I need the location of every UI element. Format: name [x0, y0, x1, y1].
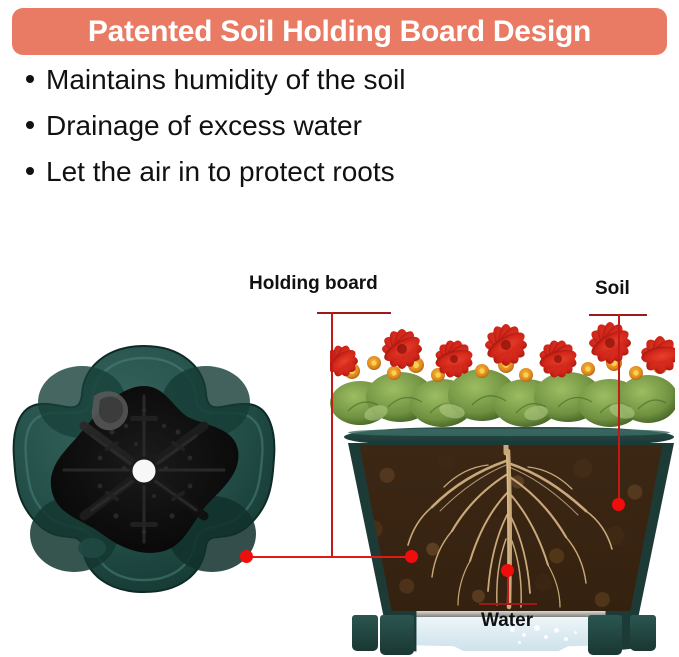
- callout-label-water: Water: [481, 610, 533, 632]
- list-item: Drainage of excess water: [26, 112, 586, 158]
- holding-board-leader-rule: [317, 312, 391, 314]
- feature-list: Maintains humidity of the soil Drainage …: [26, 66, 586, 204]
- planter-foot: [352, 615, 378, 651]
- product-illustration: Holding board Soil Water: [0, 255, 679, 638]
- list-item: Maintains humidity of the soil: [26, 66, 586, 112]
- feature-text: Maintains humidity of the soil: [46, 66, 406, 94]
- holding-board-marker-left: [240, 550, 253, 563]
- callout-label-soil: Soil: [595, 278, 630, 300]
- feature-text: Drainage of excess water: [46, 112, 362, 140]
- bullet-icon: [26, 75, 34, 83]
- planter-rim-highlight: [348, 429, 670, 436]
- holding-board-svg: [8, 340, 280, 598]
- bullet-icon: [26, 121, 34, 129]
- water-bubble: [518, 641, 521, 644]
- page-title: Patented Soil Holding Board Design: [88, 17, 591, 47]
- soil-marker: [612, 498, 625, 511]
- water-bubble: [522, 633, 526, 637]
- holding-board-photo: [8, 340, 280, 598]
- feature-text: Let the air in to protect roots: [46, 158, 395, 186]
- water-bubble: [534, 625, 540, 631]
- planter-foot: [630, 615, 656, 651]
- header-banner: Patented Soil Holding Board Design: [12, 8, 667, 55]
- planter-foot: [380, 615, 414, 655]
- holding-board-connector: [245, 556, 415, 558]
- callout-label-holding-board: Holding board: [249, 273, 378, 295]
- water-marker: [501, 564, 514, 577]
- bullet-icon: [26, 167, 34, 175]
- roots-svg: [348, 445, 674, 613]
- holding-board-marker-right: [405, 550, 418, 563]
- holding-board-leader-line: [331, 312, 333, 558]
- flower-cluster: [330, 315, 675, 437]
- water-leader-line: [507, 573, 509, 604]
- water-bubble: [544, 635, 548, 639]
- soil-leader-line: [618, 314, 620, 504]
- list-item: Let the air in to protect roots: [26, 158, 586, 204]
- planter-foot: [588, 615, 622, 655]
- root-system: [348, 445, 674, 613]
- flowers-svg: [330, 315, 675, 437]
- water-bubble: [554, 628, 559, 633]
- water-bubble: [574, 631, 577, 634]
